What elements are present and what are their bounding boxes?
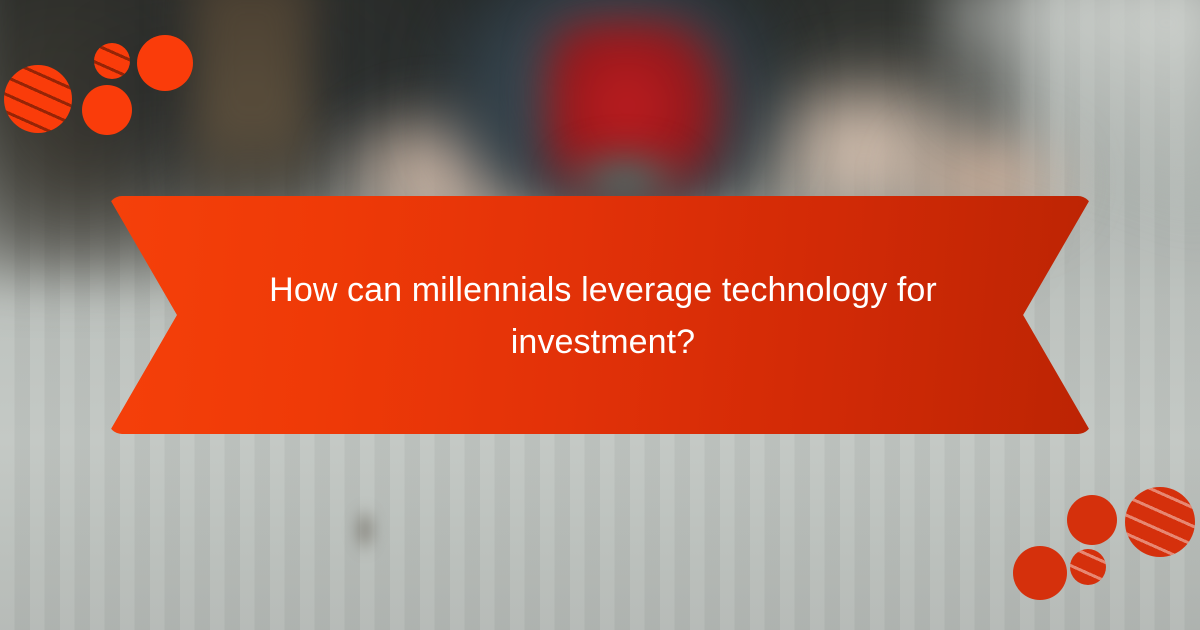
background-floor-smudge: [352, 505, 378, 555]
background-pillar: [192, 0, 312, 230]
social-share-card: How can millennials leverage technology …: [0, 0, 1200, 630]
background-wall-right: [940, 0, 1200, 220]
headline-ribbon: How can millennials leverage technology …: [108, 196, 1092, 434]
headline-text: How can millennials leverage technology …: [233, 264, 973, 368]
